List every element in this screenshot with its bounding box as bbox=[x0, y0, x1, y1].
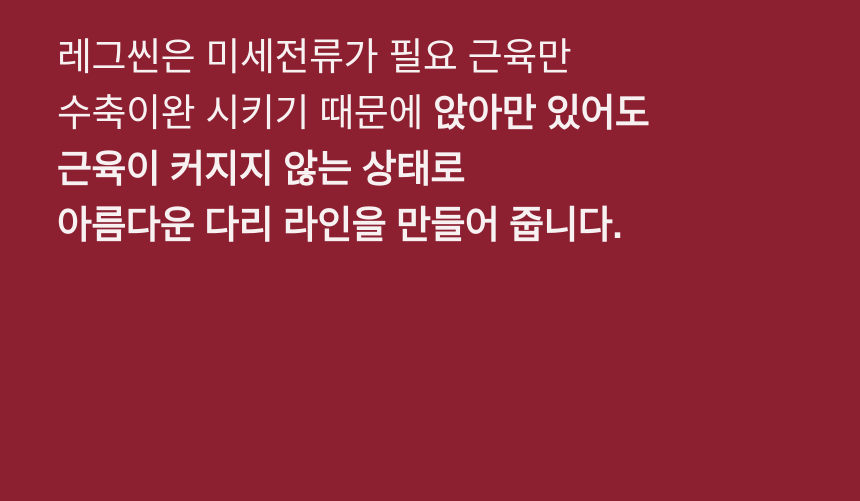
copy-line-3: 근육이 커지지 않는 상태로 bbox=[57, 142, 837, 198]
marketing-copy-block: 레그씬은 미세전류가 필요 근육만 수축이완 시키기 때문에 앉아만 있어도 근… bbox=[57, 30, 837, 254]
copy-line-2-normal-text: 수축이완 시키기 때문에 bbox=[57, 93, 433, 135]
copy-line-4: 아름다운 다리 라인을 만들어 줍니다. bbox=[57, 198, 837, 254]
copy-line-4-emphasis-text: 아름다운 다리 라인을 만들어 줍니다. bbox=[57, 205, 622, 247]
copy-line-2: 수축이완 시키기 때문에 앉아만 있어도 bbox=[57, 86, 837, 142]
copy-line-2-emphasis-text: 앉아만 있어도 bbox=[433, 93, 649, 135]
copy-line-1: 레그씬은 미세전류가 필요 근육만 bbox=[57, 30, 837, 86]
copy-line-1-normal-text: 레그씬은 미세전류가 필요 근육만 bbox=[57, 37, 571, 79]
promo-banner: 레그씬은 미세전류가 필요 근육만 수축이완 시키기 때문에 앉아만 있어도 근… bbox=[0, 0, 860, 501]
copy-line-3-emphasis-text: 근육이 커지지 않는 상태로 bbox=[57, 149, 465, 191]
